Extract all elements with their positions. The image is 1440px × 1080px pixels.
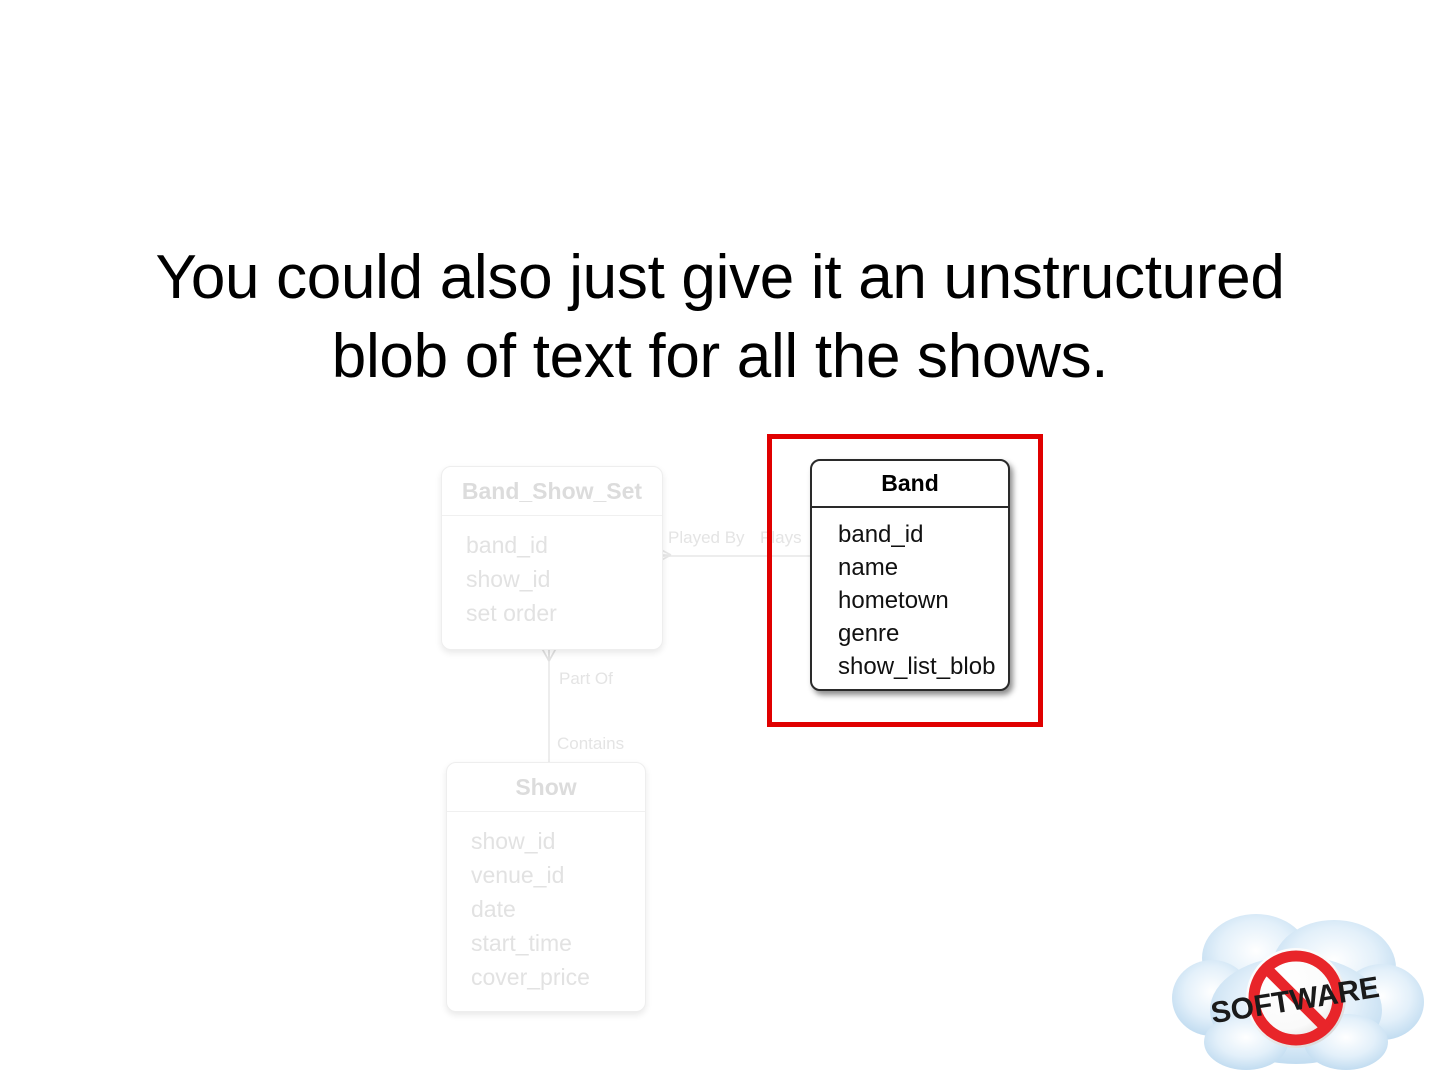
entity-band-show-set[interactable]: Band_Show_Set band_id show_id set order — [441, 466, 663, 650]
highlight-rectangle-band — [767, 434, 1043, 727]
entity-attribute: cover_price — [471, 960, 645, 994]
entity-title-show: Show — [447, 763, 645, 811]
entity-show[interactable]: Show show_id venue_id date start_time co… — [446, 762, 646, 1012]
entity-attribute: date — [471, 892, 645, 926]
connector-band-show-set-to-show — [548, 652, 550, 764]
entity-attribute: show_id — [466, 562, 662, 596]
entity-attribute: venue_id — [471, 858, 645, 892]
entity-attributes-show: show_id venue_id date start_time cover_p… — [447, 812, 645, 1008]
entity-title-band-show-set: Band_Show_Set — [442, 467, 662, 515]
relationship-label-contains: Contains — [557, 734, 624, 754]
entity-attributes-band-show-set: band_id show_id set order — [442, 516, 662, 644]
entity-attribute: band_id — [466, 528, 662, 562]
entity-attribute: show_id — [471, 824, 645, 858]
no-software-cloud-logo: SOFTWARE — [1168, 906, 1430, 1074]
relationship-label-part-of: Part Of — [559, 669, 613, 689]
entity-attribute: set order — [466, 596, 662, 630]
entity-attribute: start_time — [471, 926, 645, 960]
relationship-label-played-by: Played By — [668, 528, 745, 548]
